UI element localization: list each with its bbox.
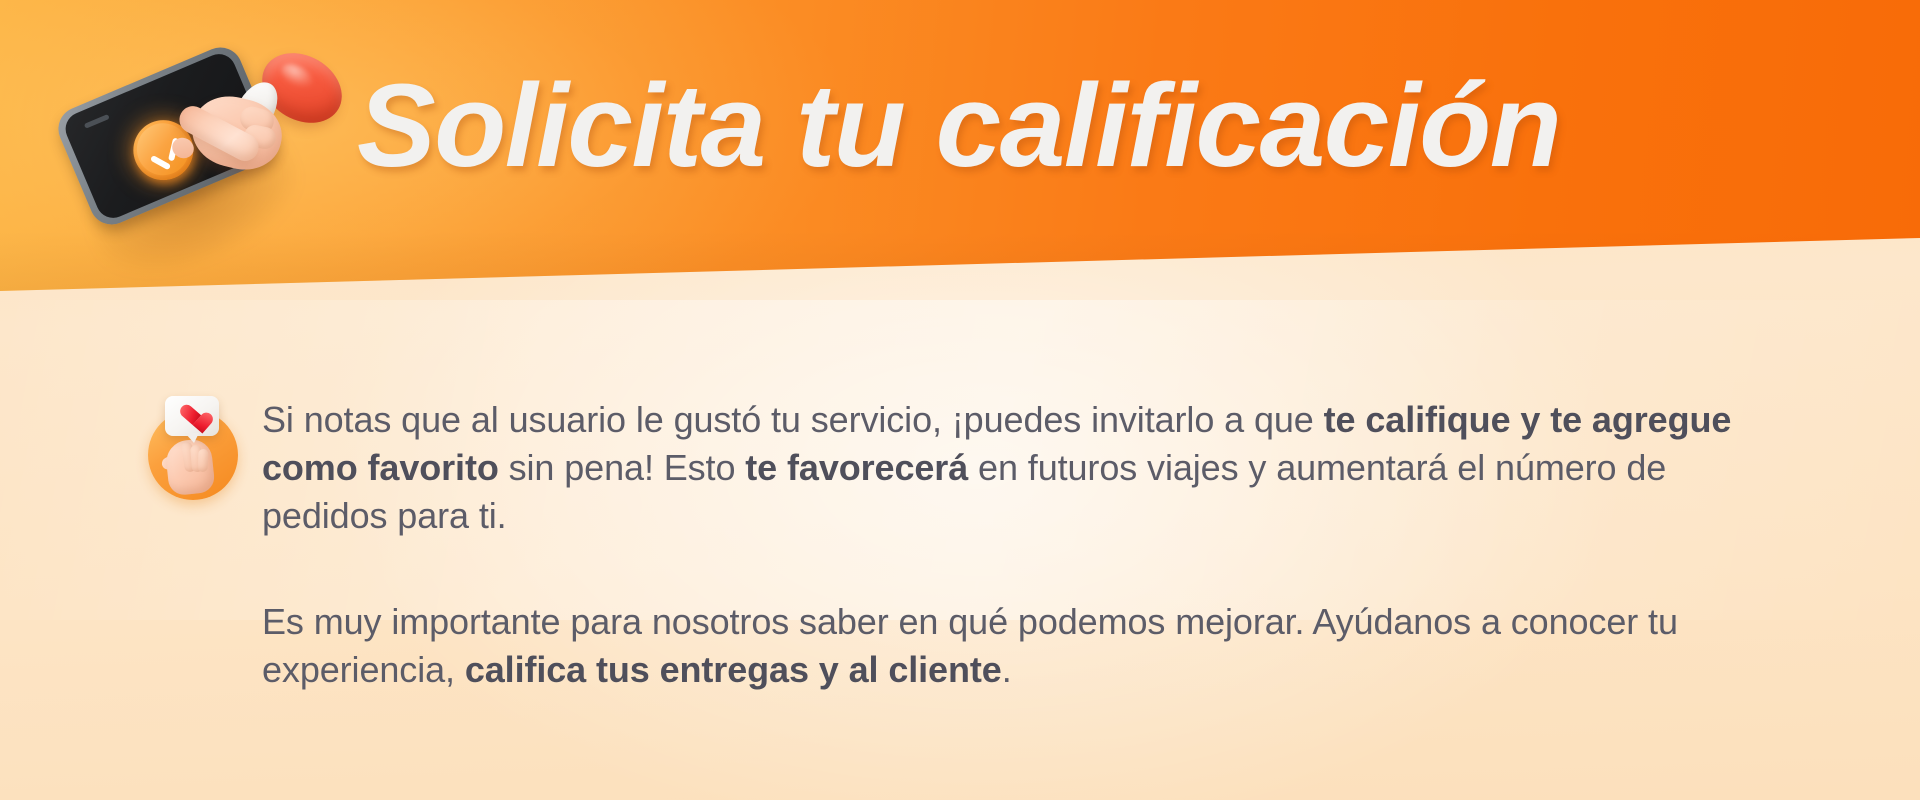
page-title: Solicita tu calificación <box>357 67 1560 185</box>
plain-text: sin pena! Esto <box>499 447 746 488</box>
paragraph-1: Si notas que al usuario le gustó tu serv… <box>262 396 1782 540</box>
paragraph-2: Es muy importante para nosotros saber en… <box>262 598 1782 694</box>
pointing-hand-icon <box>188 54 368 224</box>
phone-speaker-icon <box>84 114 110 129</box>
plain-text: Si notas que al usuario le gustó tu serv… <box>262 399 1324 440</box>
heart-icon <box>179 404 206 429</box>
body-copy: Si notas que al usuario le gustó tu serv… <box>262 396 1782 694</box>
icon-hand-finger <box>198 449 209 472</box>
hand-heart-bubble-icon <box>143 392 243 492</box>
phone-pointing-hand-illustration <box>40 48 370 258</box>
emphasis-text: te favorecerá <box>745 447 968 488</box>
plain-text: . <box>1002 649 1012 690</box>
banner-stage: Solicita tu calificación Si notas que al… <box>0 0 1920 800</box>
emphasis-text: califica tus entregas y al cliente <box>465 649 1002 690</box>
